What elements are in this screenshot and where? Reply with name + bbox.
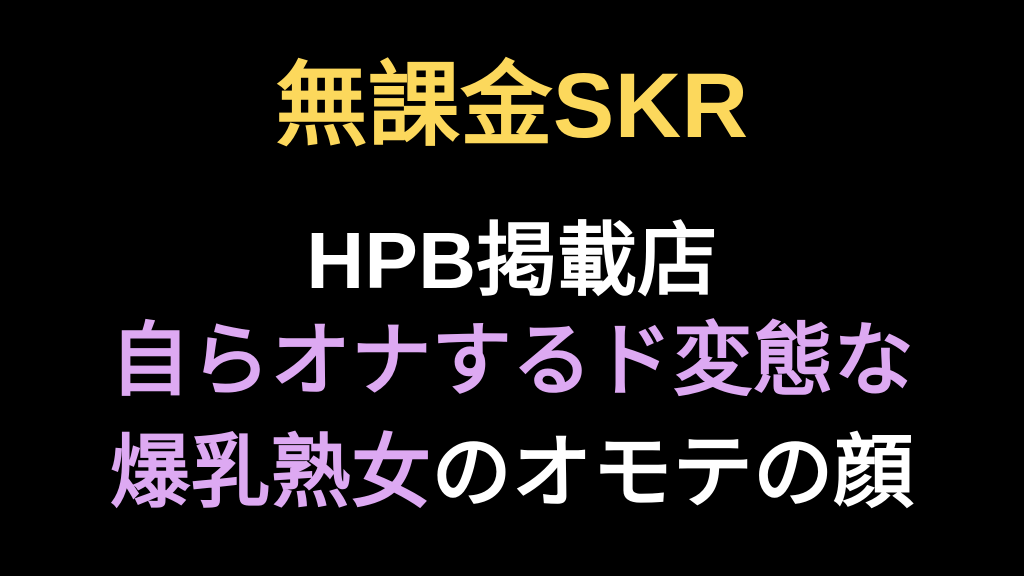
slide-canvas: 無課金SKR HPB掲載店 自らオナするド変態な 爆乳熟女のオモテの顔	[0, 0, 1024, 576]
body-line-2-highlight: 爆乳熟女	[110, 428, 432, 517]
page-title: 無課金SKR	[0, 60, 1024, 152]
body-line-2-plain: のオモテの顔	[432, 428, 914, 517]
body-line-2: 爆乳熟女のオモテの顔	[0, 433, 1024, 513]
body-line-1: 自らオナするド変態な	[0, 321, 1024, 401]
subtitle-text: HPB掲載店	[0, 221, 1024, 301]
